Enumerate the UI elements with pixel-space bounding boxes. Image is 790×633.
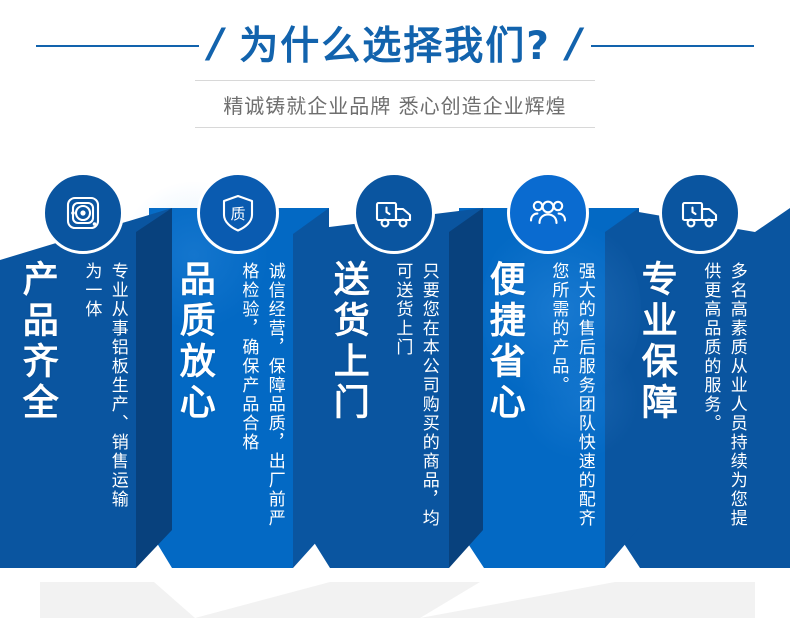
panel-title-convenient-service: 便捷省心 bbox=[485, 260, 523, 424]
page-subtitle: 精诚铸就企业品牌 悉心创造企业辉煌 bbox=[195, 81, 595, 127]
badge-circle-professional-guarantee[interactable] bbox=[659, 172, 741, 254]
panel-desc-product-range: 专业从事铝板生产、销售运输为一体 bbox=[78, 262, 131, 526]
shield-quality-icon: 质 bbox=[216, 191, 260, 235]
feature-panel-professional-guarantee[interactable]: 专业保障 多名高素质从业人员持续为您提供更高品质的服务。 bbox=[615, 160, 790, 633]
feature-panel-quality-assured[interactable]: 质 品质放心 诚信经营，保障品质，出厂前严格检验，确保产品合格 bbox=[149, 160, 329, 633]
badge-circle-home-delivery[interactable] bbox=[353, 172, 435, 254]
feature-panel-product-range[interactable]: 产品齐全 专业从事铝板生产、销售运输为一体 bbox=[0, 160, 172, 633]
badge-circle-convenient-service[interactable] bbox=[507, 172, 589, 254]
panel-desc-convenient-service: 强大的售后服务团队快速的配齐您所需的产品。 bbox=[545, 262, 598, 532]
people-group-icon bbox=[525, 190, 571, 236]
header-slash-left-icon: / bbox=[199, 24, 234, 64]
feature-panel-convenient-service[interactable]: 便捷省心 强大的售后服务团队快速的配齐您所需的产品。 bbox=[459, 160, 639, 633]
header-rule-right bbox=[591, 45, 754, 47]
header-slash-right-icon: / bbox=[557, 24, 592, 64]
feature-panel-home-delivery[interactable]: 送货上门 只要您在本公司购买的商品，均可送货上门 bbox=[305, 160, 483, 633]
panel-title-product-range: 产品齐全 bbox=[18, 260, 56, 424]
page-header: / 为什么选择我们? / 精诚铸就企业品牌 悉心创造企业辉煌 bbox=[0, 0, 790, 160]
delivery-truck-icon bbox=[371, 190, 417, 236]
panel-title-professional-guarantee: 专业保障 bbox=[637, 260, 675, 424]
panel-desc-quality-assured: 诚信经营，保障品质，出厂前严格检验，确保产品合格 bbox=[235, 262, 288, 532]
header-title-row: / 为什么选择我们? / bbox=[0, 18, 790, 74]
svg-text:质: 质 bbox=[230, 205, 245, 223]
panel-title-quality-assured: 品质放心 bbox=[175, 260, 213, 424]
subtitle-rule-bottom bbox=[195, 127, 595, 128]
badge-circle-quality-assured[interactable]: 质 bbox=[197, 172, 279, 254]
header-rule-left bbox=[36, 45, 199, 47]
page-title: 为什么选择我们? bbox=[233, 27, 557, 66]
panel-title-home-delivery: 送货上门 bbox=[329, 260, 367, 424]
vault-icon bbox=[61, 191, 105, 235]
delivery-truck-icon bbox=[677, 190, 723, 236]
header-subtitle-block: 精诚铸就企业品牌 悉心创造企业辉煌 bbox=[195, 80, 595, 128]
panel-desc-home-delivery: 只要您在本公司购买的商品，均可送货上门 bbox=[389, 262, 442, 532]
badge-circle-product-range[interactable] bbox=[42, 172, 124, 254]
feature-panel-group: 产品齐全 专业从事铝板生产、销售运输为一体 质 品质放心 诚信经营，保障品质，出… bbox=[0, 160, 790, 633]
panel-desc-professional-guarantee: 多名高素质从业人员持续为您提供更高品质的服务。 bbox=[697, 262, 750, 532]
